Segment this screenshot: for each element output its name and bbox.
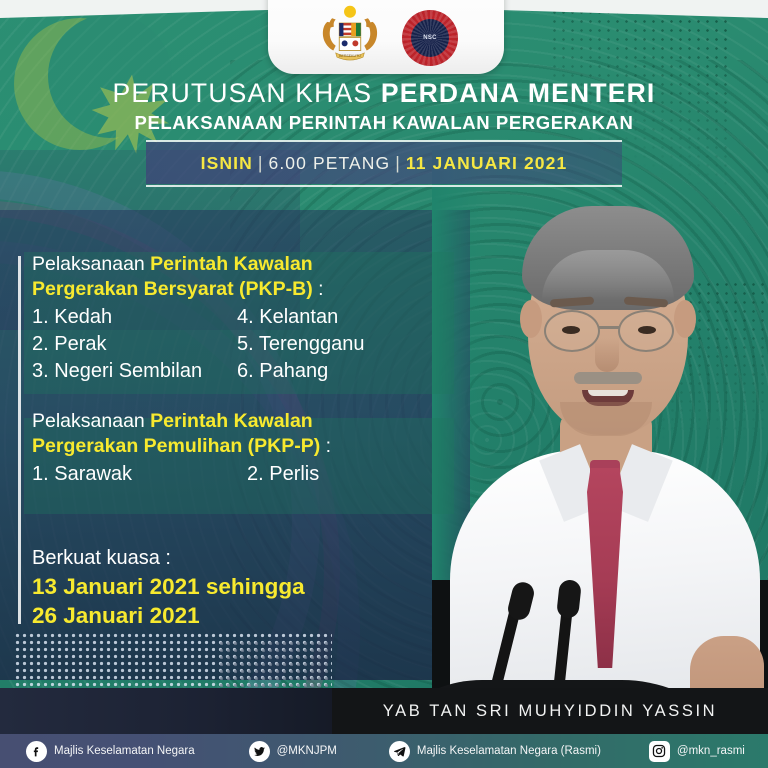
list-item: 1. Kedah bbox=[32, 304, 237, 331]
footer-label-twitter: @MKNJPM bbox=[277, 745, 337, 757]
pkpp-highlight-1: Perintah Kawalan bbox=[150, 410, 313, 432]
list-item: 2. Perlis bbox=[247, 461, 472, 488]
section-pkpp: Pelaksanaan Perintah Kawalan Pergerakan … bbox=[32, 409, 472, 488]
effective-date-line-2: 26 Januari 2021 bbox=[32, 601, 452, 630]
name-strip-left bbox=[0, 688, 340, 734]
pkpp-intro: Pelaksanaan bbox=[32, 410, 150, 432]
speaker-name: YAB TAN SRI MUHYIDDIN YASSIN bbox=[332, 688, 768, 734]
pkpb-state-list: 1. Kedah 4. Kelantan 2. Perak 5. Terengg… bbox=[32, 304, 472, 385]
moustache bbox=[574, 372, 642, 384]
page-subtitle: PELAKSANAAN PERINTAH KAWALAN PERGERAKAN bbox=[0, 114, 768, 133]
section-pkpb: Pelaksanaan Perintah Kawalan Pergerakan … bbox=[32, 252, 472, 385]
twitter-icon[interactable] bbox=[249, 741, 270, 762]
list-item: 4. Kelantan bbox=[237, 304, 472, 331]
datebar: ISNIN|6.00 PETANG|11 JANUARI 2021 bbox=[146, 142, 622, 184]
header-block: PERUTUSAN KHAS PERDANA MENTERI PELAKSANA… bbox=[0, 80, 768, 132]
poster-canvas: BERSEKUTU NSC PERUTUSAN KHAS PERDANA MEN… bbox=[0, 0, 768, 768]
pkpb-colon: : bbox=[313, 278, 324, 300]
instagram-icon[interactable] bbox=[649, 741, 670, 762]
section-pkpb-heading: Pelaksanaan Perintah Kawalan Pergerakan … bbox=[32, 252, 472, 302]
date-day: ISNIN bbox=[201, 153, 253, 173]
list-item: 5. Terengganu bbox=[237, 331, 472, 358]
telegram-icon[interactable] bbox=[389, 741, 410, 762]
section-pkpp-heading: Pelaksanaan Perintah Kawalan Pergerakan … bbox=[32, 409, 472, 459]
list-item: 1. Sarawak bbox=[32, 461, 247, 488]
effective-date-line-1: 13 Januari 2021 sehingga bbox=[32, 572, 452, 601]
pkpp-highlight-2: Pergerakan Pemulihan (PKP-P) bbox=[32, 435, 320, 457]
datebar-bottom-rule bbox=[146, 185, 622, 187]
svg-text:BERSEKUTU: BERSEKUTU bbox=[339, 54, 361, 58]
title-bold: PERDANA MENTERI bbox=[381, 78, 656, 108]
social-footer: Majlis Keselamatan Negara @MKNJPM Majlis… bbox=[0, 734, 768, 768]
mkn-seal-icon: NSC bbox=[402, 10, 458, 66]
pkpb-highlight-2: Pergerakan Bersyarat (PKP-B) bbox=[32, 278, 313, 300]
footer-item-twitter[interactable]: @MKNJPM bbox=[249, 741, 337, 762]
footer-label-facebook: Majlis Keselamatan Negara bbox=[54, 745, 195, 757]
date-sep-2: | bbox=[390, 153, 406, 173]
date-full: 11 JANUARI 2021 bbox=[406, 153, 567, 173]
jata-negara-icon: BERSEKUTU bbox=[314, 4, 386, 66]
date-time: 6.00 PETANG bbox=[269, 153, 391, 173]
list-item: 3. Negeri Sembilan bbox=[32, 358, 237, 385]
emblem-panel: BERSEKUTU NSC bbox=[268, 0, 504, 74]
body-content: Pelaksanaan Perintah Kawalan Pergerakan … bbox=[32, 252, 472, 488]
list-item: 2. Perak bbox=[32, 331, 237, 358]
effective-label: Berkuat kuasa : bbox=[32, 545, 452, 572]
prime-minister-photo bbox=[432, 150, 768, 730]
footer-item-instagram[interactable]: @mkn_rasmi bbox=[649, 741, 745, 762]
hair bbox=[522, 206, 694, 310]
footer-item-facebook[interactable]: Majlis Keselamatan Negara bbox=[26, 741, 195, 762]
date-sep-1: | bbox=[253, 153, 269, 173]
footer-item-telegram[interactable]: Majlis Keselamatan Negara (Rasmi) bbox=[389, 741, 601, 762]
left-accent-rule bbox=[18, 256, 21, 624]
pkpp-colon: : bbox=[320, 435, 331, 457]
pkpb-highlight-1: Perintah Kawalan bbox=[150, 253, 313, 275]
list-item: 6. Pahang bbox=[237, 358, 472, 385]
title-light: PERUTUSAN KHAS bbox=[113, 78, 381, 108]
facebook-icon[interactable] bbox=[26, 741, 47, 762]
footer-label-instagram: @mkn_rasmi bbox=[677, 745, 745, 757]
footer-label-telegram: Majlis Keselamatan Negara (Rasmi) bbox=[417, 745, 601, 757]
page-title: PERUTUSAN KHAS PERDANA MENTERI bbox=[0, 80, 768, 107]
pkpb-intro: Pelaksanaan bbox=[32, 253, 150, 275]
pkpp-state-list: 1. Sarawak 2. Perlis bbox=[32, 461, 472, 488]
datebar-text: ISNIN|6.00 PETANG|11 JANUARI 2021 bbox=[201, 153, 568, 174]
effective-period-block: Berkuat kuasa : 13 Januari 2021 sehingga… bbox=[32, 545, 452, 630]
